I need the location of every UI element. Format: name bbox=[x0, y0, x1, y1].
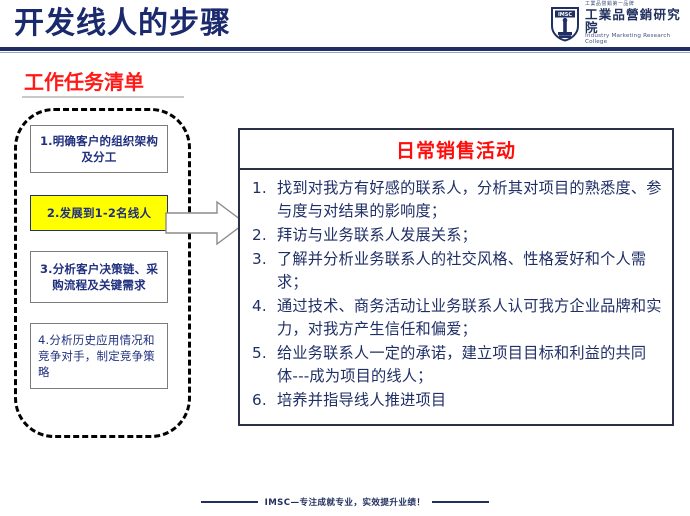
footer-rule-left bbox=[201, 501, 258, 503]
slide-footer: IMSC—专注成就专业，实效提升业绩！ bbox=[0, 494, 690, 510]
list-item: 1.找到对我方有好感的联系人，分析其对项目的熟悉度、参与度与对结果的影响度； bbox=[250, 177, 662, 223]
activities-panel: 日常销售活动 1.找到对我方有好感的联系人，分析其对项目的熟悉度、参与度与对结果… bbox=[238, 128, 674, 426]
logo-text-block: 工業品營銷第一品牌 工業品營銷研究院 Industry Marketing Re… bbox=[585, 3, 686, 45]
list-item: 4.通过技术、商务活动让业务联系人认可我方企业品牌和实力，对我方产生信任和偏爱； bbox=[250, 295, 662, 341]
title-divider-thin bbox=[0, 52, 690, 53]
footer-rule-right bbox=[432, 501, 489, 503]
list-item-text: 了解并分析业务联系人的社交风格、性格爱好和个人需求； bbox=[277, 250, 646, 291]
activities-list: 1.找到对我方有好感的联系人，分析其对项目的熟悉度、参与度与对结果的影响度； 2… bbox=[240, 170, 672, 412]
list-item: 2.拜访与业务联系人发展关系； bbox=[250, 224, 662, 247]
slide-canvas: 开发线人的步骤 IMSC 工業品營銷第一品牌 工業品營銷研究院 Industry… bbox=[0, 0, 690, 516]
list-item-number: 5. bbox=[252, 342, 274, 365]
title-divider-thick bbox=[0, 47, 690, 51]
list-item-number: 4. bbox=[252, 295, 274, 318]
logo-tagline: 工業品營銷第一品牌 bbox=[585, 3, 690, 8]
list-item-text: 拜访与业务联系人发展关系； bbox=[277, 226, 477, 244]
list-item: 5.给业务联系人一定的承诺，建立项目目标和利益的共同体---成为项目的线人； bbox=[250, 342, 662, 388]
list-item-text: 通过技术、商务活动让业务联系人认可我方企业品牌和实力，对我方产生信任和偏爱； bbox=[277, 297, 662, 338]
logo-name-en: Industry Marketing Research College bbox=[585, 33, 690, 45]
list-item-text: 给业务联系人一定的承诺，建立项目目标和利益的共同体---成为项目的线人； bbox=[277, 344, 646, 385]
worklist-heading: 工作任务清单 bbox=[24, 68, 144, 96]
footer-text: IMSC—专注成就专业，实效提升业绩！ bbox=[265, 496, 426, 508]
step-box-2-highlighted[interactable]: 2.发展到1-2名线人 bbox=[30, 195, 168, 231]
step-box-3[interactable]: 3.分析客户决策链、采购流程及关键需求 bbox=[30, 251, 168, 303]
list-item-number: 1. bbox=[252, 177, 274, 200]
list-item-number: 6. bbox=[252, 389, 274, 412]
step-box-2-label: 2.发展到1-2名线人 bbox=[35, 205, 163, 221]
company-logo: IMSC 工業品營銷第一品牌 工業品營銷研究院 Industry Marketi… bbox=[550, 3, 686, 45]
step-box-4-label: 4.分析历史应用情况和竞争对手，制定竞争策略 bbox=[38, 332, 160, 380]
list-item: 6.培养并指导线人推进项目 bbox=[250, 389, 662, 412]
step-box-1-label: 1.明确客户的组织架构及分工 bbox=[35, 133, 163, 165]
right-block-arrow-icon bbox=[165, 199, 247, 247]
list-item-number: 2. bbox=[252, 224, 274, 247]
list-item-text: 找到对我方有好感的联系人，分析其对项目的熟悉度、参与度与对结果的影响度； bbox=[277, 179, 662, 220]
activities-panel-title: 日常销售活动 bbox=[240, 130, 672, 170]
steps-container: 1.明确客户的组织架构及分工 2.发展到1-2名线人 3.分析客户决策链、采购流… bbox=[14, 108, 191, 438]
list-item-number: 3. bbox=[252, 248, 274, 271]
page-title: 开发线人的步骤 bbox=[14, 2, 231, 46]
svg-text:IMSC: IMSC bbox=[558, 12, 572, 18]
shield-icon: IMSC bbox=[550, 6, 580, 42]
step-box-3-label: 3.分析客户决策链、采购流程及关键需求 bbox=[35, 261, 163, 293]
list-item-text: 培养并指导线人推进项目 bbox=[277, 391, 446, 409]
step-box-4[interactable]: 4.分析历史应用情况和竞争对手，制定竞争策略 bbox=[30, 323, 168, 389]
worklist-heading-underline bbox=[22, 96, 184, 98]
step-box-1[interactable]: 1.明确客户的组织架构及分工 bbox=[30, 125, 168, 173]
logo-name-cn: 工業品營銷研究院 bbox=[585, 8, 686, 34]
list-item: 3.了解并分析业务联系人的社交风格、性格爱好和个人需求； bbox=[250, 248, 662, 294]
